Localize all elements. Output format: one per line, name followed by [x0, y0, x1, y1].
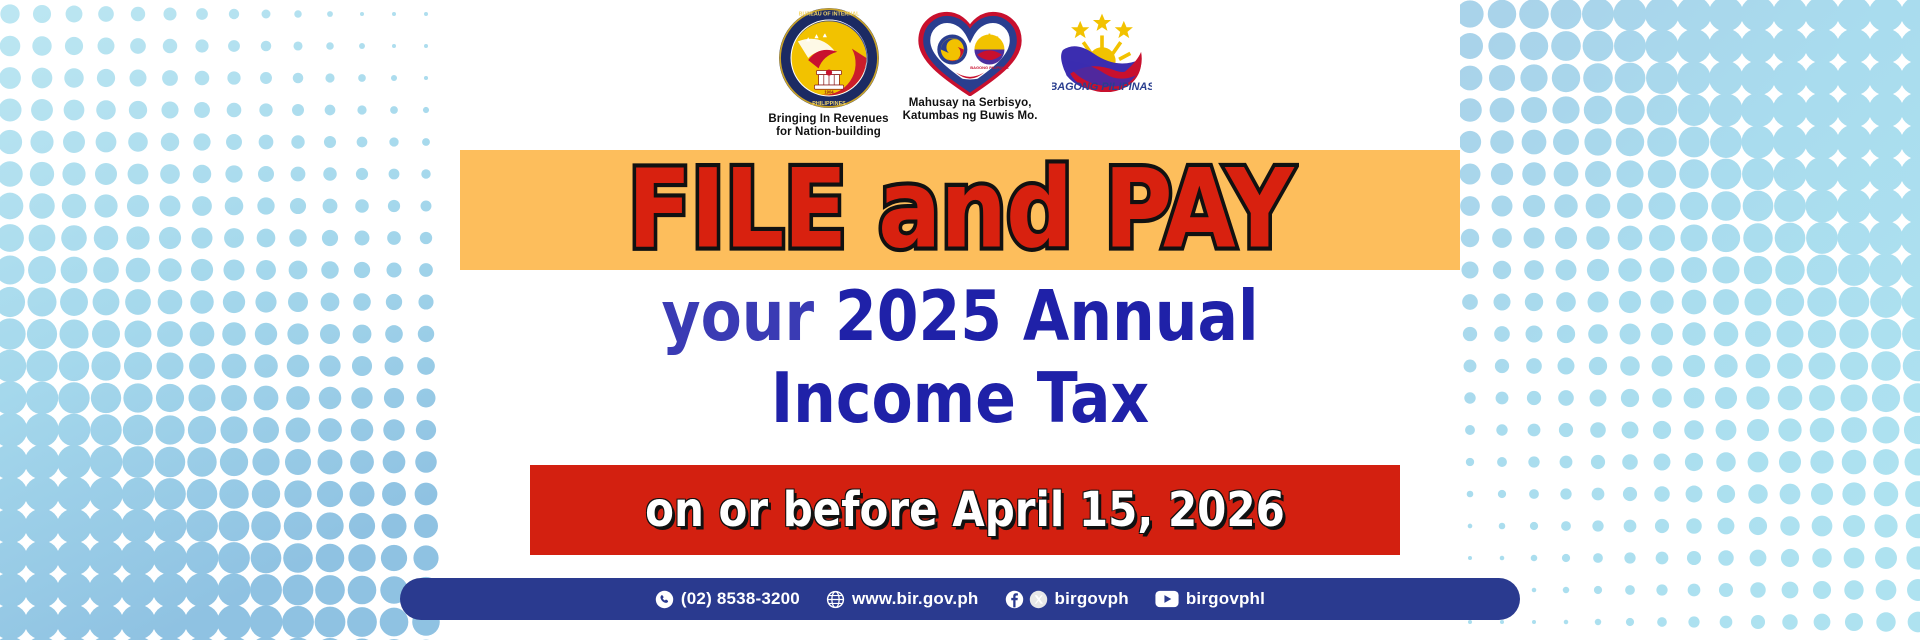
- bir-caption-line-1: Bringing In Revenues: [768, 113, 888, 126]
- globe-icon: [826, 590, 845, 609]
- mahusay-caption-line-2: Katumbas ng Buwis Mo.: [903, 110, 1038, 123]
- social-handle-youtube: birgovphl: [1186, 589, 1265, 609]
- blue-headline-prefix: your: [661, 276, 835, 357]
- bagong-pilipinas-block: BAGONG PILIPINAS: [1052, 6, 1152, 92]
- website-url: www.bir.gov.ph: [852, 589, 979, 609]
- blue-headline-line-1: your 2025 Annual: [0, 274, 1920, 360]
- facebook-icon[interactable]: [1005, 590, 1024, 609]
- website-contact[interactable]: www.bir.gov.ph: [826, 589, 979, 609]
- bagong-pilipinas-icon: BAGONG PILIPINAS: [1052, 8, 1152, 92]
- blue-headline-emphasis: 2025 Annual: [835, 276, 1259, 357]
- file-and-pay-headline: FILE and PAY: [627, 156, 1292, 265]
- social-contact-primary[interactable]: birgovph: [1005, 589, 1129, 609]
- social-handle-primary: birgovph: [1055, 589, 1129, 609]
- bir-caption-line-2: for Nation-building: [768, 126, 888, 139]
- phone-number: (02) 8538-3200: [681, 589, 800, 609]
- bir-seal-year: 1904: [824, 89, 834, 94]
- deadline-text: on or before April 15, 2026: [645, 485, 1285, 535]
- phone-icon: [655, 590, 674, 609]
- x-twitter-icon[interactable]: [1029, 590, 1048, 609]
- phone-contact[interactable]: (02) 8538-3200: [655, 589, 800, 609]
- bir-seal-ring-bottom-label: PHILIPPINES: [812, 101, 846, 107]
- file-and-pay-band: FILE and PAY: [460, 150, 1460, 270]
- youtube-icon[interactable]: [1155, 590, 1179, 608]
- mahusay-heart-icon: BAGONG PILIPINAS: [917, 10, 1023, 96]
- blue-headline-line-2: Income Tax: [0, 356, 1920, 442]
- deadline-band: on or before April 15, 2026: [530, 465, 1400, 555]
- banner-root: BUREAU OF INTERNAL PHILIPPINES 1904 Brin…: [0, 0, 1920, 640]
- contact-footer-bar: (02) 8538-3200 www.bir.gov.ph: [400, 578, 1520, 620]
- youtube-contact[interactable]: birgovphl: [1155, 589, 1265, 609]
- mahusay-caption-line-1: Mahusay na Serbisyo,: [903, 97, 1038, 110]
- logo-row: BUREAU OF INTERNAL PHILIPPINES 1904 Brin…: [0, 6, 1920, 139]
- mahusay-inner-label: BAGONG PILIPINAS: [970, 65, 1009, 70]
- mahusay-caption: Mahusay na Serbisyo, Katumbas ng Buwis M…: [903, 97, 1038, 123]
- social-icon-group: [1005, 590, 1048, 609]
- bir-seal-ring-top: [828, 6, 830, 8]
- bir-seal-ring-top-label: BUREAU OF INTERNAL: [798, 11, 859, 17]
- blue-headline: your 2025 Annual Income Tax: [0, 280, 1920, 436]
- bagong-pilipinas-wordmark: BAGONG PILIPINAS: [1052, 81, 1152, 92]
- bir-seal-block: BUREAU OF INTERNAL PHILIPPINES 1904 Brin…: [768, 6, 888, 139]
- mahusay-logo-block: BAGONG PILIPINAS Mahusay na Serbisyo, Ka…: [903, 6, 1038, 123]
- bir-seal-caption: Bringing In Revenues for Nation-building: [768, 113, 888, 139]
- bir-seal-icon: BUREAU OF INTERNAL PHILIPPINES 1904: [777, 6, 881, 110]
